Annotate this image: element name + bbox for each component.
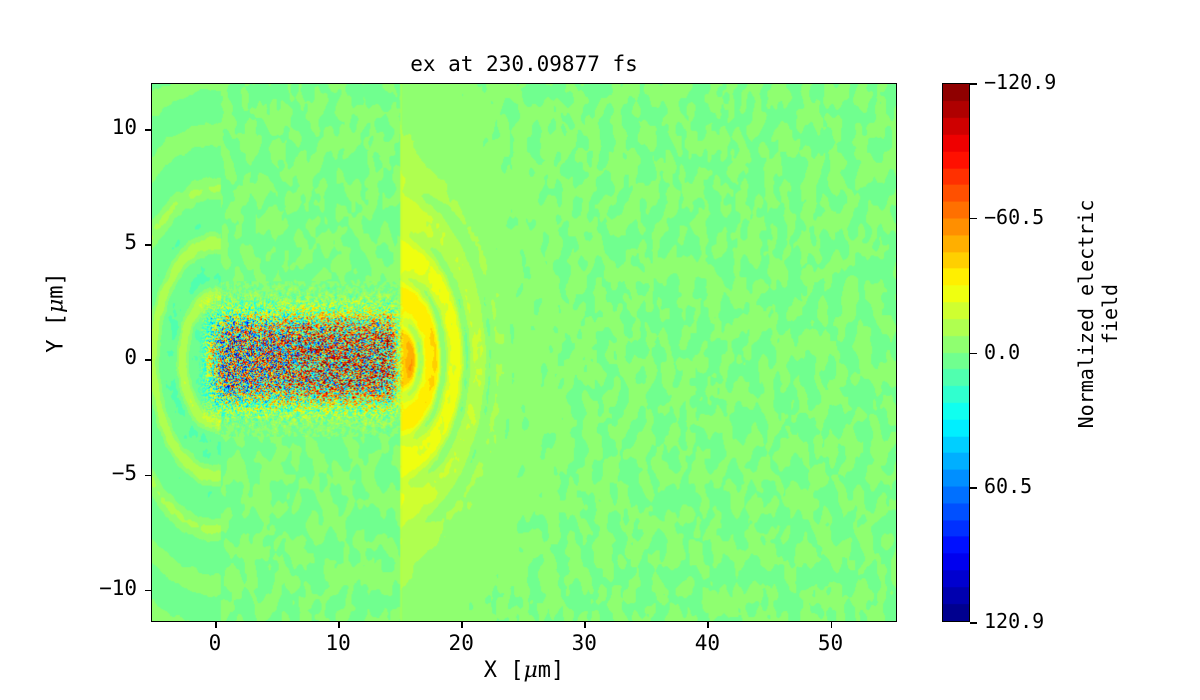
heatmap-axes <box>151 83 897 622</box>
colorbar-tick-mark <box>970 353 977 355</box>
x-axis-label: X [μm] <box>151 658 897 683</box>
colorbar <box>942 83 970 622</box>
x-tick-label: 40 <box>667 631 747 655</box>
field-heatmap <box>152 84 896 621</box>
y-tick-mark <box>145 475 151 477</box>
y-tick-mark <box>145 244 151 246</box>
x-tick-mark <box>215 622 217 628</box>
colorbar-tick-label: 0.0 <box>984 340 1020 364</box>
y-tick-label: −10 <box>67 576 137 600</box>
y-tick-label: −5 <box>67 461 137 485</box>
colorbar-gradient <box>943 84 969 621</box>
chart-title: ex at 230.09877 fs <box>151 52 897 76</box>
y-tick-label: 5 <box>67 230 137 254</box>
y-tick-mark <box>145 359 151 361</box>
x-tick-mark <box>831 622 833 628</box>
x-tick-label: 30 <box>544 631 624 655</box>
colorbar-tick-label: 60.5 <box>984 474 1032 498</box>
x-tick-label: 50 <box>791 631 871 655</box>
colorbar-tick-mark <box>970 622 977 624</box>
y-tick-mark <box>145 129 151 131</box>
colorbar-tick-label: −120.9 <box>984 70 1056 94</box>
colorbar-tick-mark <box>970 83 977 85</box>
colorbar-tick-mark <box>970 487 977 489</box>
y-axis-label: Y [μm] <box>44 213 69 413</box>
x-tick-mark <box>584 622 586 628</box>
y-tick-label: 0 <box>67 345 137 369</box>
x-tick-mark <box>707 622 709 628</box>
colorbar-tick-mark <box>970 218 977 220</box>
y-tick-mark <box>145 590 151 592</box>
figure: ex at 230.09877 fs 01020304050 1050−5−10… <box>0 0 1200 700</box>
colorbar-tick-label: 120.9 <box>984 609 1044 633</box>
y-tick-label: 10 <box>67 115 137 139</box>
x-tick-label: 20 <box>421 631 501 655</box>
colorbar-label: Normalized electric field <box>1074 194 1122 434</box>
x-tick-label: 0 <box>175 631 255 655</box>
x-tick-label: 10 <box>298 631 378 655</box>
x-tick-mark <box>338 622 340 628</box>
colorbar-tick-label: −60.5 <box>984 205 1044 229</box>
x-tick-mark <box>461 622 463 628</box>
